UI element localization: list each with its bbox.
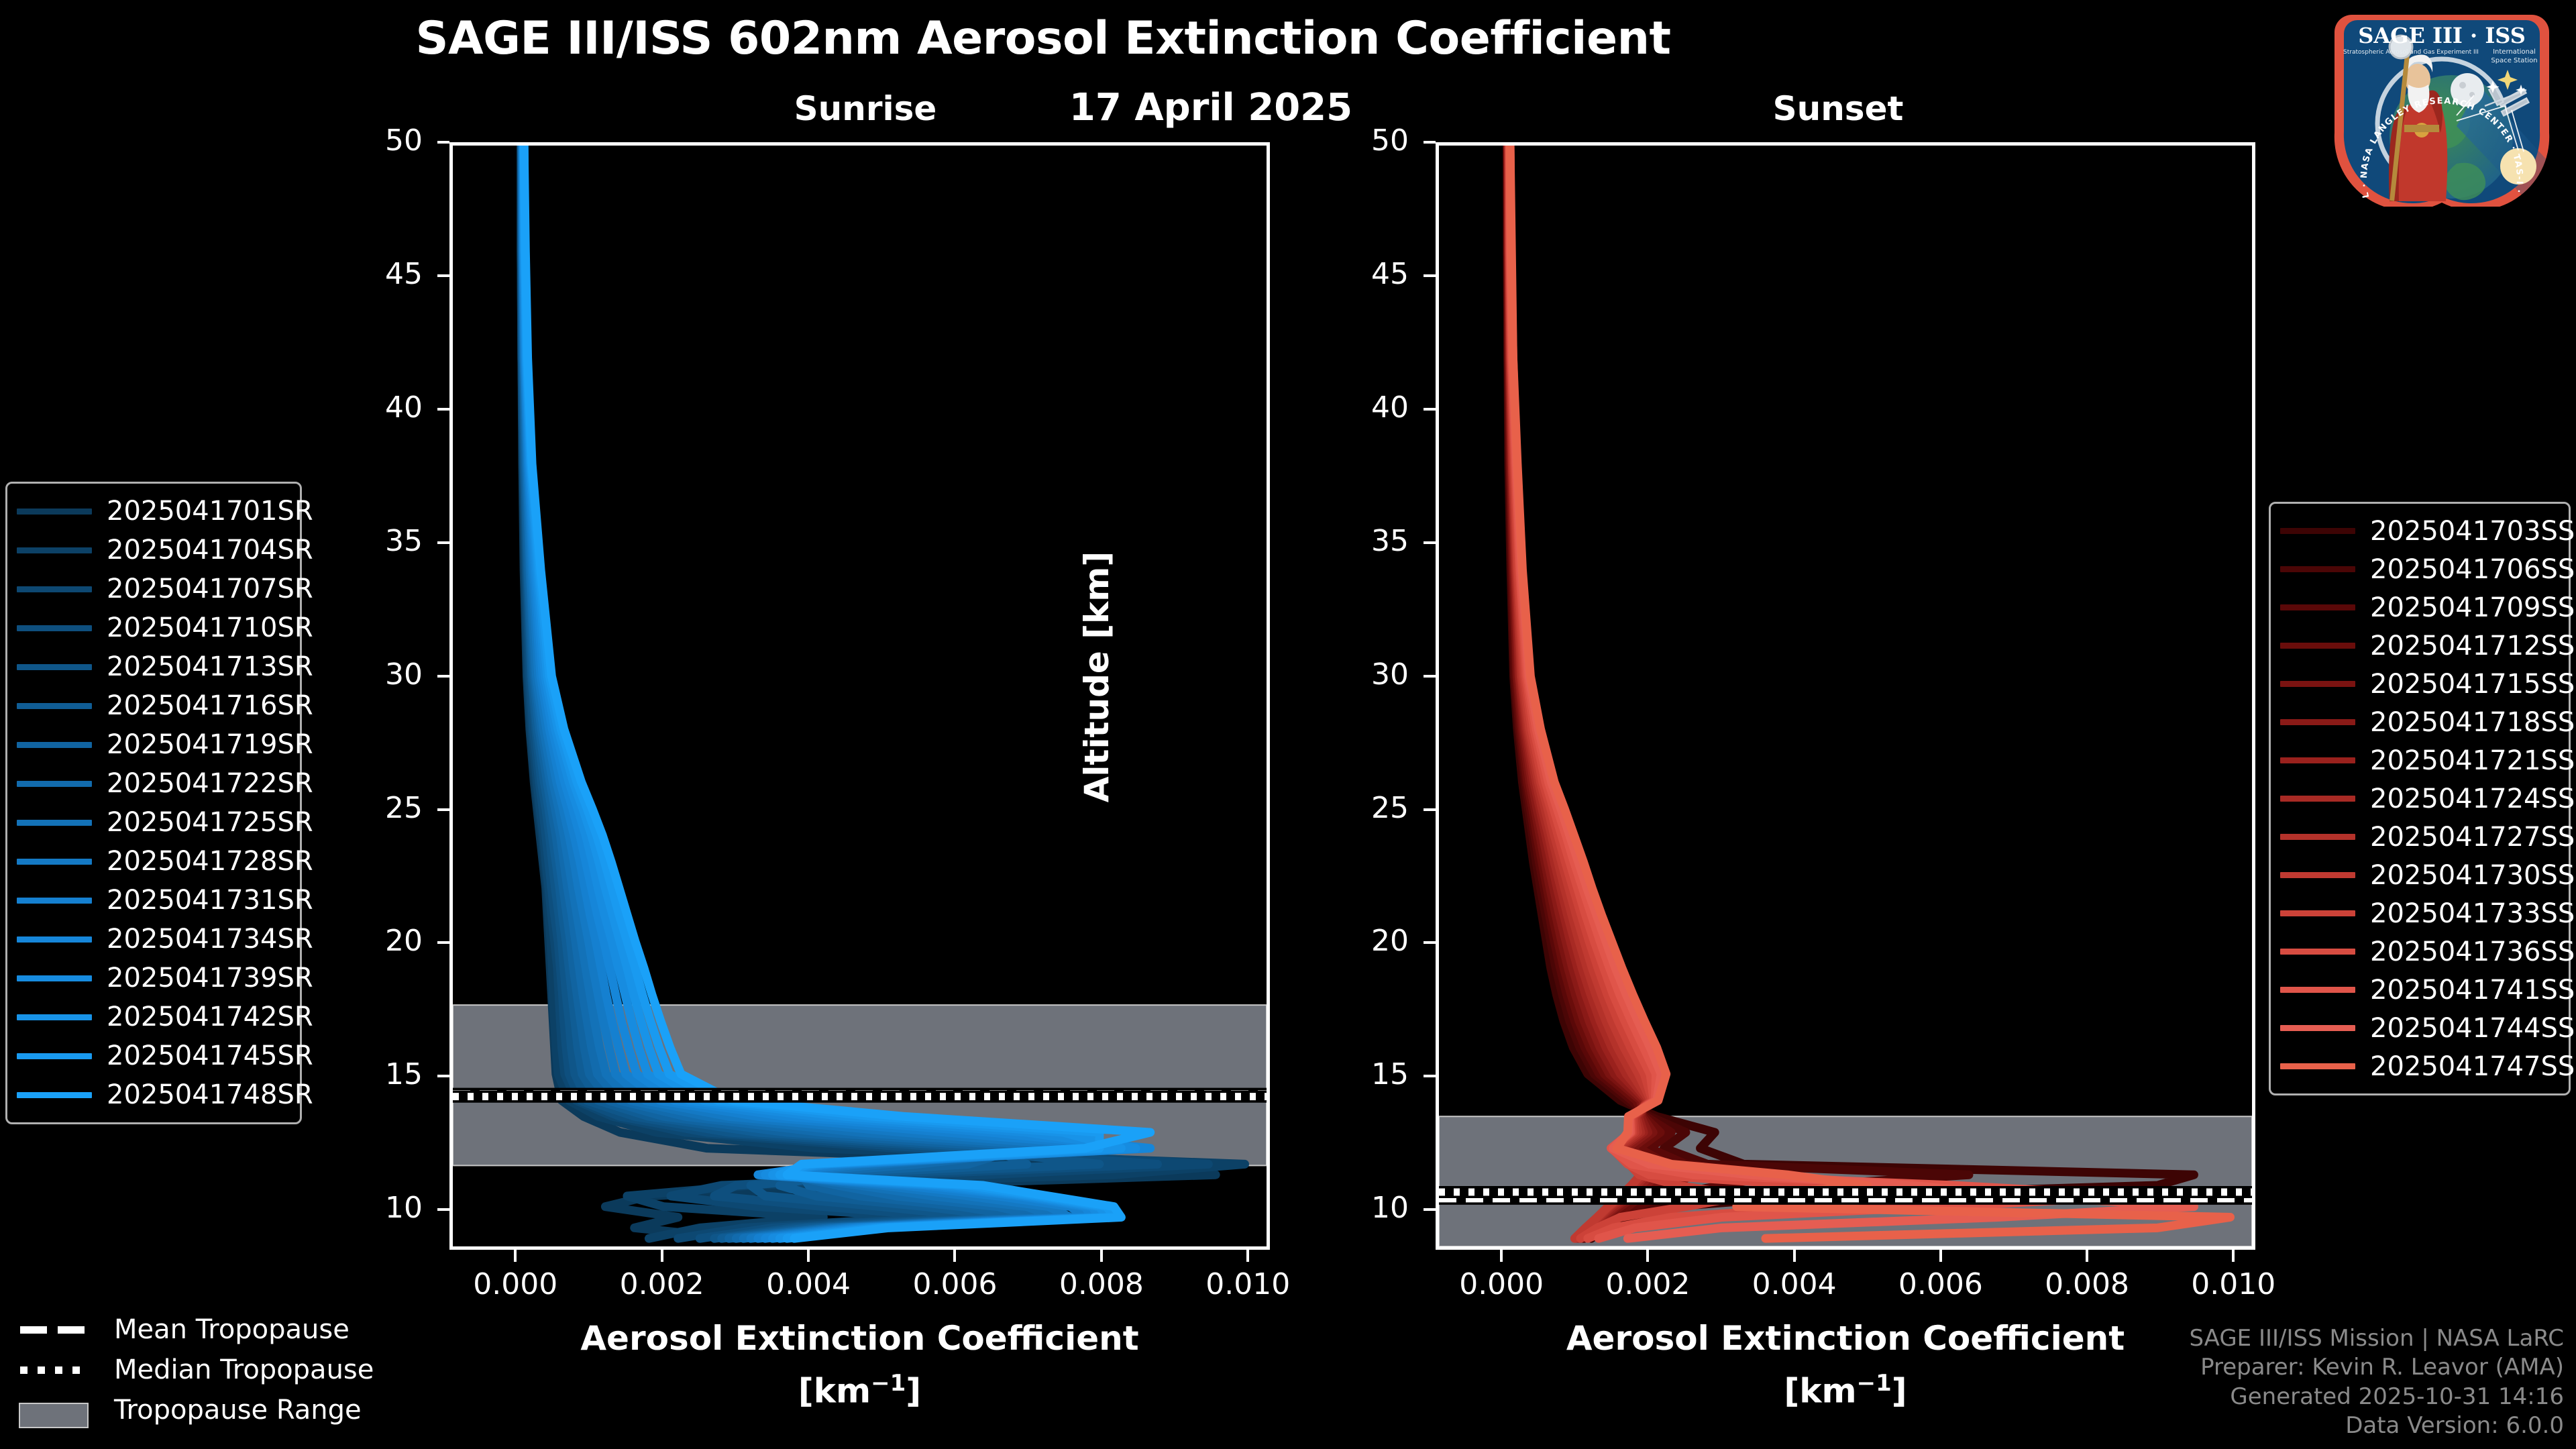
legend-color-swatch	[17, 703, 92, 709]
logo-subtitle-right-2: Space Station	[2491, 57, 2537, 64]
legend-item-2025041742SR[interactable]: 2025041742SR	[17, 998, 289, 1036]
legend-item-2025041728SR[interactable]: 2025041728SR	[17, 842, 289, 881]
x-tick-mark	[1100, 1250, 1103, 1262]
legend-event-label: 2025041736SS	[2370, 936, 2575, 967]
y-tick-mark	[437, 141, 449, 144]
y-tick-label: 50	[1328, 123, 1409, 158]
x-tick-mark	[1939, 1250, 1942, 1262]
legend-item-2025041710SR[interactable]: 2025041710SR	[17, 608, 289, 647]
x-tick-label: 0.004	[1721, 1267, 1868, 1301]
y-tick-label: 25	[1328, 791, 1409, 825]
x-tick-mark	[953, 1250, 956, 1262]
sunrise-plot-frame[interactable]	[449, 142, 1270, 1250]
legend-item-tropopause-range[interactable]: Tropopause Range	[19, 1390, 394, 1430]
y-tick-mark	[437, 1075, 449, 1077]
y-tick-mark	[1424, 274, 1436, 277]
y-tick-mark	[1424, 408, 1436, 411]
y-tick-mark	[1424, 941, 1436, 944]
credit-preparer: Preparer: Kevin R. Leavor (AMA)	[2189, 1353, 2564, 1383]
y-tick-mark	[1424, 541, 1436, 544]
sunrise-plot-area	[453, 146, 1267, 1246]
legend-item-2025041725SR[interactable]: 2025041725SR	[17, 803, 289, 842]
legend-event-label: 2025041742SR	[107, 1002, 313, 1032]
unit-close-left: ]	[906, 1372, 921, 1411]
legend-item-2025041747SS[interactable]: 2025041747SS	[2280, 1047, 2558, 1085]
y-tick-label: 15	[342, 1057, 423, 1091]
logo-moon-crater	[2459, 82, 2466, 89]
legend-event-label: 2025041709SS	[2370, 592, 2575, 623]
legend-color-swatch	[2280, 757, 2355, 763]
legend-event-label: 2025041722SR	[107, 768, 313, 799]
y-tick-mark	[1424, 1075, 1436, 1077]
legend-event-label: 2025041715SS	[2370, 669, 2575, 700]
sunset-y-axis-label: Altitude [km]	[1077, 502, 1116, 851]
y-tick-mark	[437, 1208, 449, 1211]
legend-event-label: 2025041719SR	[107, 729, 313, 760]
legend-item-2025041707SR[interactable]: 2025041707SR	[17, 570, 289, 608]
y-tick-label: 30	[342, 657, 423, 692]
x-tick-label: 0.004	[735, 1267, 882, 1301]
legend-item-2025041745SR[interactable]: 2025041745SR	[17, 1036, 289, 1075]
legend-color-swatch	[2280, 719, 2355, 725]
sage-iii-iss-logo: SAGE III · ISS Stratospheric Aerosol and…	[2325, 5, 2559, 207]
sunset-profile-svg	[1439, 146, 2252, 1246]
x-tick-label: 0.006	[1867, 1267, 2015, 1301]
legend-item-2025041713SR[interactable]: 2025041713SR	[17, 647, 289, 686]
sunrise-x-axis-unit: [km−1]	[449, 1370, 1270, 1411]
legend-item-2025041734SR[interactable]: 2025041734SR	[17, 920, 289, 959]
legend-color-swatch	[2280, 1063, 2355, 1069]
legend-color-swatch	[2280, 987, 2355, 993]
y-tick-label: 10	[342, 1191, 423, 1225]
legend-event-label: 2025041710SR	[107, 612, 313, 643]
legend-event-label: 2025041733SS	[2370, 898, 2575, 929]
legend-item-2025041731SR[interactable]: 2025041731SR	[17, 881, 289, 920]
legend-color-swatch	[17, 898, 92, 904]
legend-item-2025041721SS[interactable]: 2025041721SS	[2280, 741, 2558, 780]
y-tick-label: 35	[342, 524, 423, 558]
y-tick-mark	[437, 941, 449, 944]
x-tick-label: 0.000	[441, 1267, 589, 1301]
legend-item-2025041722SR[interactable]: 2025041722SR	[17, 764, 289, 803]
sunset-plot-area	[1439, 146, 2252, 1246]
credits-block: SAGE III/ISS Mission | NASA LaRC Prepare…	[2189, 1324, 2564, 1441]
legend-event-label: 2025041739SR	[107, 963, 313, 994]
y-tick-label: 45	[342, 257, 423, 291]
legend-color-swatch	[17, 975, 92, 981]
legend-color-swatch	[2280, 1025, 2355, 1031]
legend-item-2025041724SS[interactable]: 2025041724SS	[2280, 780, 2558, 818]
legend-color-swatch	[17, 820, 92, 826]
legend-color-swatch	[2280, 796, 2355, 802]
legend-event-label: 2025041731SR	[107, 885, 313, 916]
y-tick-label: 20	[342, 924, 423, 958]
legend-event-label: 2025041707SR	[107, 574, 313, 604]
x-tick-label: 0.010	[2159, 1267, 2307, 1301]
legend-item-2025041709SS[interactable]: 2025041709SS	[2280, 588, 2558, 627]
logo-moon-crater-2	[2469, 92, 2475, 97]
median-tropopause-label: Median Tropopause	[114, 1354, 374, 1385]
legend-item-2025041736SS[interactable]: 2025041736SS	[2280, 932, 2558, 971]
y-tick-label: 10	[1328, 1191, 1409, 1225]
y-tick-mark	[1424, 141, 1436, 144]
legend-color-swatch	[2280, 528, 2355, 534]
logo-subtitle-right-1: International	[2493, 48, 2536, 56]
sunrise-x-axis-label: Aerosol Extinction Coefficient	[449, 1319, 1270, 1358]
legend-event-label: 2025041704SR	[107, 535, 313, 566]
legend-color-swatch	[2280, 872, 2355, 878]
legend-event-label: 2025041706SS	[2370, 554, 2575, 585]
legend-color-swatch	[17, 1014, 92, 1020]
legend-event-label: 2025041747SS	[2370, 1051, 2575, 1082]
legend-item-2025041719SR[interactable]: 2025041719SR	[17, 725, 289, 764]
legend-color-swatch	[17, 936, 92, 943]
y-tick-label: 40	[1328, 390, 1409, 425]
legend-color-swatch	[17, 664, 92, 670]
sunset-x-axis-unit: [km−1]	[1436, 1370, 2255, 1411]
legend-item-2025041741SS[interactable]: 2025041741SS	[2280, 971, 2558, 1009]
x-tick-label: 0.002	[1574, 1267, 1721, 1301]
legend-color-swatch	[17, 781, 92, 787]
y-tick-mark	[437, 541, 449, 544]
legend-color-swatch	[17, 859, 92, 865]
mean-tropopause-label: Mean Tropopause	[114, 1314, 350, 1345]
sunset-panel-title: Sunset	[1637, 89, 2039, 128]
legend-color-swatch	[17, 586, 92, 592]
x-tick-label: 0.008	[1028, 1267, 1175, 1301]
credit-generated: Generated 2025-10-31 14:16	[2189, 1383, 2564, 1412]
legend-item-mean-tropopause[interactable]: Mean Tropopause	[19, 1309, 394, 1350]
legend-item-2025041727SS[interactable]: 2025041727SS	[2280, 818, 2558, 856]
y-tick-mark	[437, 274, 449, 277]
median-tropopause-dot-icon	[19, 1362, 99, 1377]
legend-item-2025041739SR[interactable]: 2025041739SR	[17, 959, 289, 998]
unit-sup-right: −1	[1857, 1370, 1892, 1397]
legend-color-swatch	[2280, 834, 2355, 840]
x-tick-mark	[2086, 1250, 2088, 1262]
y-tick-mark	[1424, 1208, 1436, 1211]
legend-event-label: 2025041741SS	[2370, 975, 2575, 1006]
legend-item-2025041706SS[interactable]: 2025041706SS	[2280, 550, 2558, 588]
legend-item-2025041715SS[interactable]: 2025041715SS	[2280, 665, 2558, 703]
legend-color-swatch	[17, 1053, 92, 1059]
legend-item-2025041730SS[interactable]: 2025041730SS	[2280, 856, 2558, 894]
tropopause-legend[interactable]: Mean Tropopause Median Tropopause Tropop…	[19, 1309, 394, 1430]
legend-event-label: 2025041725SR	[107, 807, 313, 838]
profile-line-2025041706SS[interactable]	[1507, 146, 1969, 1238]
mean-tropopause-dash-icon	[19, 1322, 99, 1337]
credit-data-version: Data Version: 6.0.0	[2189, 1411, 2564, 1441]
legend-item-2025041748SR[interactable]: 2025041748SR	[17, 1075, 289, 1114]
legend-color-swatch	[2280, 681, 2355, 687]
legend-color-swatch	[17, 547, 92, 553]
legend-item-2025041701SR[interactable]: 2025041701SR	[17, 492, 289, 531]
x-tick-label: 0.006	[881, 1267, 1028, 1301]
x-tick-mark	[1793, 1250, 1796, 1262]
legend-item-2025041712SS[interactable]: 2025041712SS	[2280, 627, 2558, 665]
credit-mission: SAGE III/ISS Mission | NASA LaRC	[2189, 1324, 2564, 1354]
y-tick-label: 25	[342, 791, 423, 825]
legend-event-label: 2025041748SR	[107, 1079, 313, 1110]
y-tick-label: 15	[1328, 1057, 1409, 1091]
y-tick-mark	[1424, 808, 1436, 811]
legend-color-swatch	[17, 508, 92, 515]
profile-line-2025041736SS[interactable]	[1509, 146, 1969, 1238]
y-tick-label: 50	[342, 123, 423, 158]
y-tick-mark	[1424, 675, 1436, 678]
x-tick-mark	[2232, 1250, 2235, 1262]
y-tick-label: 40	[342, 390, 423, 425]
legend-event-label: 2025041744SS	[2370, 1013, 2575, 1044]
legend-color-swatch	[2280, 643, 2355, 649]
x-tick-label: 0.010	[1174, 1267, 1322, 1301]
legend-event-label: 2025041745SR	[107, 1040, 313, 1071]
legend-event-label: 2025041713SR	[107, 651, 313, 682]
legend-item-2025041703SS[interactable]: 2025041703SS	[2280, 512, 2558, 550]
x-tick-label: 0.002	[588, 1267, 736, 1301]
legend-color-swatch	[17, 1092, 92, 1098]
legend-item-2025041718SS[interactable]: 2025041718SS	[2280, 703, 2558, 741]
legend-event-label: 2025041728SR	[107, 846, 313, 877]
y-tick-mark	[437, 675, 449, 678]
y-tick-label: 45	[1328, 257, 1409, 291]
y-tick-label: 35	[1328, 524, 1409, 558]
x-tick-mark	[1246, 1250, 1249, 1262]
legend-item-2025041744SS[interactable]: 2025041744SS	[2280, 1009, 2558, 1047]
legend-event-label: 2025041734SR	[107, 924, 313, 955]
x-tick-mark	[1646, 1250, 1649, 1262]
logo-svg: SAGE III · ISS Stratospheric Aerosol and…	[2325, 5, 2559, 207]
legend-event-label: 2025041712SS	[2370, 631, 2575, 661]
legend-item-2025041733SS[interactable]: 2025041733SS	[2280, 894, 2558, 932]
x-tick-mark	[1500, 1250, 1503, 1262]
sunrise-profile-svg	[453, 146, 1267, 1246]
unit-close-right: ]	[1892, 1372, 1907, 1411]
legend-item-2025041704SR[interactable]: 2025041704SR	[17, 531, 289, 570]
legend-event-label: 2025041724SS	[2370, 784, 2575, 814]
unit-base-left: [km	[798, 1372, 871, 1411]
legend-event-label: 2025041718SS	[2370, 707, 2575, 738]
legend-event-label: 2025041703SS	[2370, 516, 2575, 547]
sunset-x-axis-label: Aerosol Extinction Coefficient	[1436, 1319, 2255, 1358]
unit-base-right: [km	[1784, 1372, 1856, 1411]
legend-event-label: 2025041727SS	[2370, 822, 2575, 853]
logo-subtitle-left: Stratospheric Aerosol and Gas Experiment…	[2343, 49, 2479, 56]
legend-item-2025041716SR[interactable]: 2025041716SR	[17, 686, 289, 725]
legend-item-median-tropopause[interactable]: Median Tropopause	[19, 1350, 394, 1390]
legend-color-swatch	[2280, 566, 2355, 572]
legend-color-swatch	[17, 625, 92, 631]
y-tick-mark	[437, 808, 449, 811]
x-tick-label: 0.000	[1428, 1267, 1575, 1301]
y-tick-label: 20	[1328, 924, 1409, 958]
y-tick-label: 30	[1328, 657, 1409, 692]
legend-event-label: 2025041701SR	[107, 496, 313, 527]
sunrise-event-legend[interactable]: 2025041701SR2025041704SR2025041707SR2025…	[5, 482, 302, 1124]
legend-color-swatch	[2280, 949, 2355, 955]
sunset-plot-frame[interactable]	[1436, 142, 2255, 1250]
legend-event-label: 2025041716SR	[107, 690, 313, 721]
x-tick-mark	[514, 1250, 517, 1262]
logo-title: SAGE III · ISS	[2358, 23, 2526, 48]
legend-event-label: 2025041730SS	[2370, 860, 2575, 891]
tropopause-range-swatch-icon	[19, 1403, 99, 1417]
x-tick-mark	[661, 1250, 663, 1262]
y-tick-mark	[437, 408, 449, 411]
legend-color-swatch	[2280, 910, 2355, 916]
page-title: SAGE III/ISS 602nm Aerosol Extinction Co…	[0, 12, 2086, 65]
sunset-event-legend[interactable]: 2025041703SS2025041706SS2025041709SS2025…	[2269, 502, 2571, 1095]
x-tick-mark	[807, 1250, 810, 1262]
legend-event-label: 2025041721SS	[2370, 745, 2575, 776]
unit-sup-left: −1	[871, 1370, 906, 1397]
tropopause-range-label: Tropopause Range	[114, 1395, 362, 1426]
legend-color-swatch	[17, 742, 92, 748]
x-tick-label: 0.008	[2013, 1267, 2161, 1301]
legend-color-swatch	[2280, 604, 2355, 610]
